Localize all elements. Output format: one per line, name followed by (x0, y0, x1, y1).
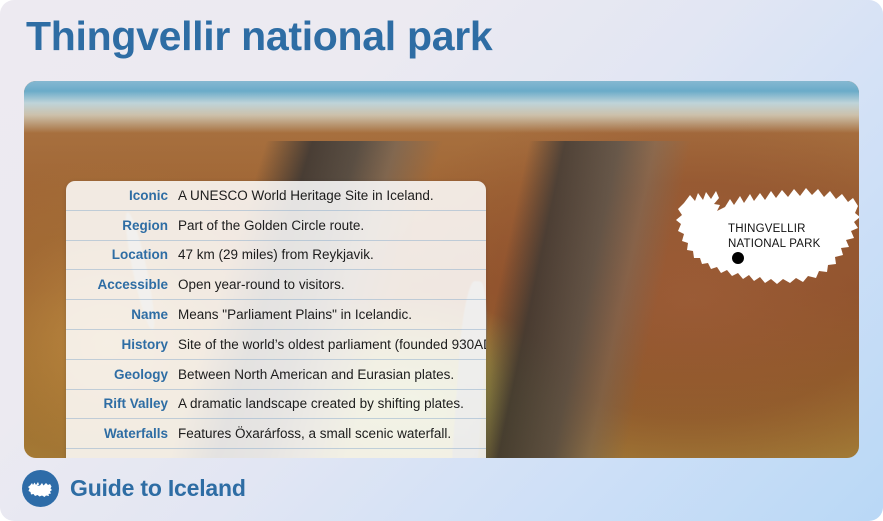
row-value: 47 km (29 miles) from Reykjavik. (178, 247, 486, 262)
row-label: Region (66, 218, 178, 233)
row-label: Iconic (66, 188, 178, 203)
row-value: Means "Parliament Plains" in Icelandic. (178, 307, 486, 322)
iceland-map-logo-icon (22, 470, 59, 507)
table-row: Rift Valley A dramatic landscape created… (66, 390, 486, 420)
page-title: Thingvellir national park (26, 13, 492, 60)
row-value: Open year-round to visitors. (178, 277, 486, 292)
row-label: Geology (66, 367, 178, 382)
row-label: History (66, 337, 178, 352)
table-row: Region Part of the Golden Circle route. (66, 211, 486, 241)
map-inset-label: THINGVELLIR NATIONAL PARK (728, 222, 821, 252)
iceland-logo-shape (28, 480, 53, 498)
row-value: A dramatic landscape created by shifting… (178, 396, 486, 411)
row-value: Features Öxarárfoss, a small scenic wate… (178, 426, 486, 441)
table-row: Geology Between North American and Euras… (66, 360, 486, 390)
row-value: A UNESCO World Heritage Site in Iceland. (178, 188, 486, 203)
table-row: Location 47 km (29 miles) from Reykjavik… (66, 241, 486, 271)
row-value: Between North American and Eurasian plat… (178, 367, 486, 382)
row-value: Part of the Golden Circle route. (178, 218, 486, 233)
row-label: Name (66, 307, 178, 322)
iceland-map-inset: THINGVELLIR NATIONAL PARK (670, 181, 859, 307)
row-label: Accessible (66, 277, 178, 292)
row-value: Walking paths with panoramic views. (178, 456, 486, 458)
row-label: Rift Valley (66, 396, 178, 411)
table-row: History Site of the world’s oldest parli… (66, 330, 486, 360)
row-label: Waterfalls (66, 426, 178, 441)
brand-name: Guide to Iceland (70, 475, 246, 502)
info-table: Iconic A UNESCO World Heritage Site in I… (66, 181, 486, 458)
table-row: Waterfalls Features Öxarárfoss, a small … (66, 419, 486, 449)
row-label: Location (66, 247, 178, 262)
table-row: Viewing Walking paths with panoramic vie… (66, 449, 486, 458)
table-row: Iconic A UNESCO World Heritage Site in I… (66, 181, 486, 211)
infographic-page: Thingvellir national park THINGVELLIR NA… (0, 0, 883, 521)
park-location-marker (732, 252, 744, 264)
photo-card: THINGVELLIR NATIONAL PARK Iconic A UNESC… (24, 81, 859, 458)
table-row: Accessible Open year-round to visitors. (66, 270, 486, 300)
table-row: Name Means "Parliament Plains" in Icelan… (66, 300, 486, 330)
footer-brand[interactable]: Guide to Iceland (22, 470, 246, 507)
map-label-line-1: THINGVELLIR (728, 222, 821, 237)
row-value: Site of the world’s oldest parliament (f… (178, 337, 486, 352)
row-label: Viewing (66, 456, 178, 458)
map-label-line-2: NATIONAL PARK (728, 237, 821, 252)
